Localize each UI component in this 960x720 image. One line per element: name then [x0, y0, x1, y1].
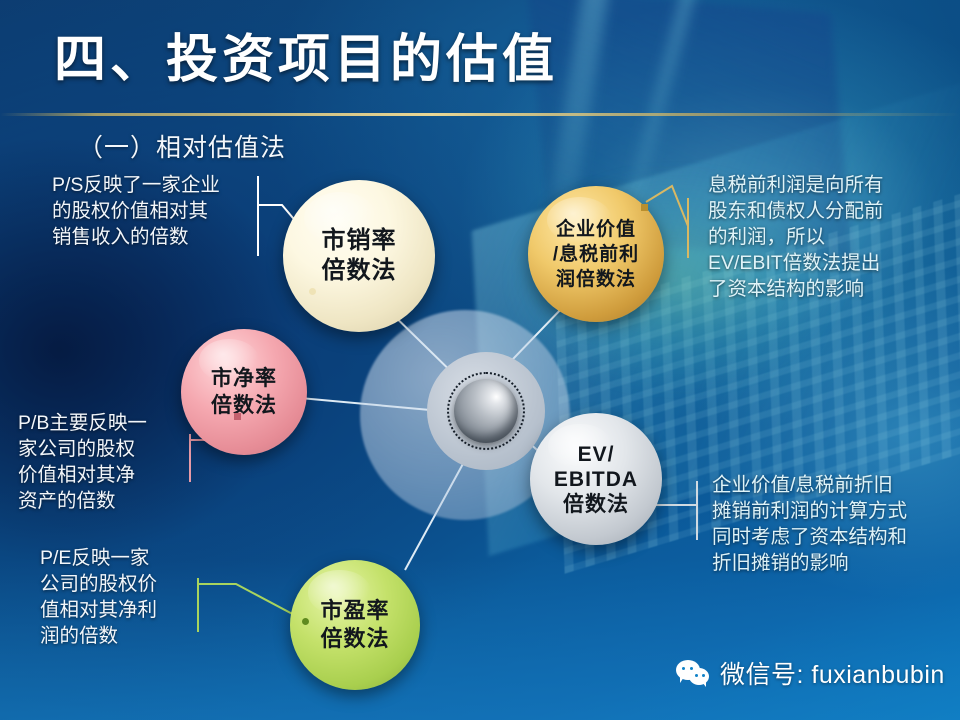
node-anchor-dot-ps: [309, 288, 316, 295]
wechat-icon: [676, 660, 710, 686]
node-anchor-dot-pb: [234, 413, 241, 420]
node-sphere-ev-ebitda[interactable]: EV/ EBITDA 倍数法: [530, 413, 662, 545]
section-subtitle: （一）相对估值法: [78, 128, 286, 164]
footer-text: 微信号: fuxianbubin: [720, 655, 945, 691]
node-label-pb: 市净率 倍数法: [211, 365, 277, 419]
node-sphere-pb[interactable]: 市净率 倍数法: [181, 329, 307, 455]
node-anchor-dot-pe: [302, 618, 309, 625]
note-ps: P/S反映了一家企业 的股权价值相对其 销售收入的倍数: [52, 172, 220, 250]
node-label-pe: 市盈率 倍数法: [320, 597, 389, 653]
leader-pe-line: [198, 584, 300, 618]
note-pb: P/B主要反映一 家公司的股权 价值相对其净 资产的倍数: [18, 410, 147, 514]
node-sphere-ev-ebit[interactable]: 企业价值 /息税前利 润倍数法: [528, 186, 664, 322]
page-title: 四、投资项目的估值: [54, 34, 558, 86]
node-anchor-dot-ev-ebit: [641, 204, 648, 211]
node-sphere-ps[interactable]: 市销率 倍数法: [283, 180, 435, 332]
node-label-ps: 市销率 倍数法: [322, 226, 397, 286]
slide-canvas: 四、投资项目的估值 （一）相对估值法 市销率 倍数法: [0, 0, 960, 720]
title-divider: [0, 113, 960, 116]
note-pe: P/E反映一家 公司的股权价 值相对其净利 润的倍数: [40, 545, 157, 649]
note-ev-ebit: 息税前利润是向所有 股东和债权人分配前 的利润，所以 EV/EBIT倍数法提出 …: [708, 172, 884, 302]
node-label-ev-ebit: 企业价值 /息税前利 润倍数法: [553, 217, 639, 292]
node-sphere-pe[interactable]: 市盈率 倍数法: [290, 560, 420, 690]
footer-watermark: 微信号: fuxianbubin: [676, 655, 945, 691]
note-ev-ebitda: 企业价值/息税前折旧 摊销前利润的计算方式 同时考虑了资本结构和 折旧摊销的影响: [712, 472, 907, 576]
hub-core-sphere[interactable]: [454, 379, 518, 443]
node-label-ev-ebitda: EV/ EBITDA 倍数法: [554, 442, 638, 517]
